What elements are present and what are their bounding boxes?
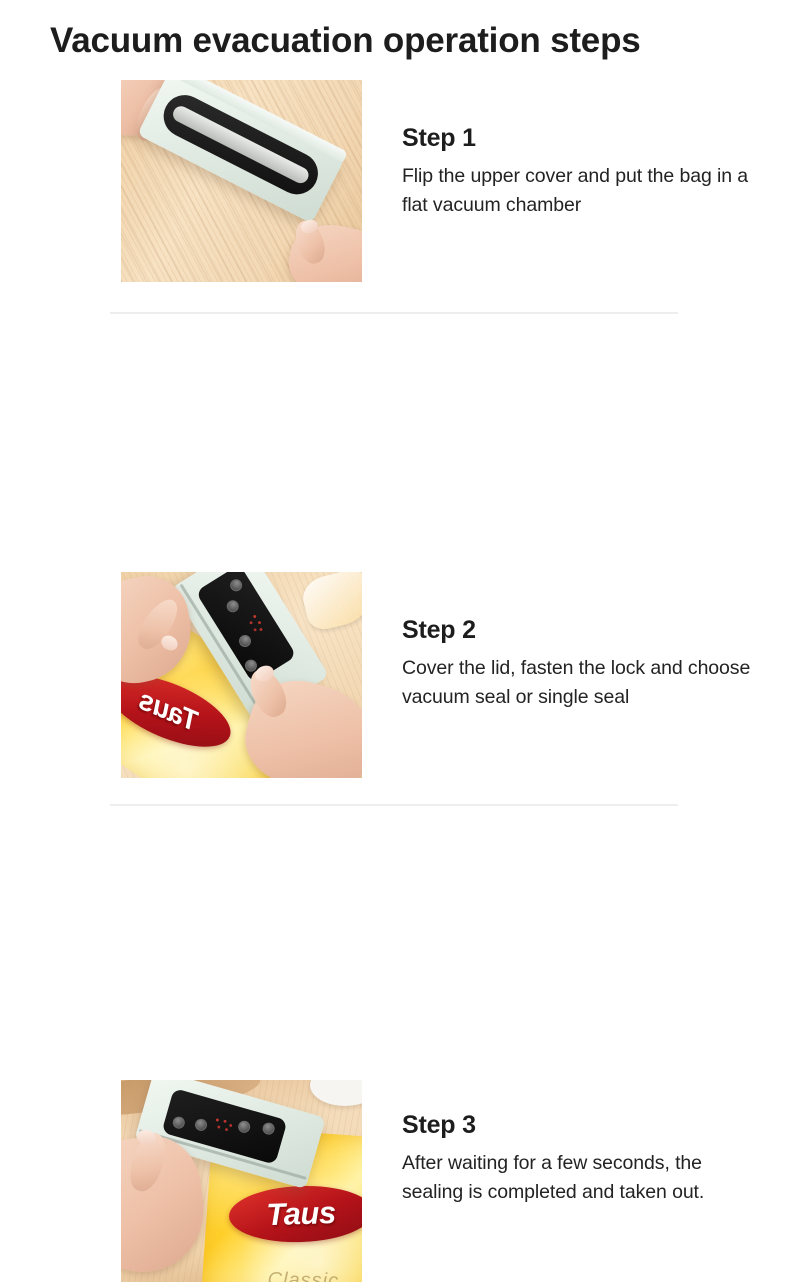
led-indicator xyxy=(210,1114,236,1135)
step-row: Step 1 Flip the upper cover and put the … xyxy=(0,75,800,313)
step-3-text: Step 3 After waiting for a few seconds, … xyxy=(402,1110,752,1207)
steps-list: Step 1 Flip the upper cover and put the … xyxy=(0,75,800,800)
step-row: Taus xyxy=(0,313,800,567)
bag-brand-text: Taus xyxy=(228,1184,362,1245)
step-1-photo xyxy=(121,80,362,282)
page-title: Vacuum evacuation operation steps xyxy=(50,19,770,63)
step-3-description: After waiting for a few seconds, the sea… xyxy=(402,1149,752,1207)
control-button xyxy=(261,1121,276,1136)
bag-variant-text: Classic xyxy=(228,1268,362,1282)
section-divider xyxy=(110,804,678,806)
control-button xyxy=(237,1119,252,1134)
step-3-photo: Taus Classic xyxy=(121,1080,362,1282)
control-button xyxy=(194,1117,209,1132)
step-1-description: Flip the upper cover and put the bag in … xyxy=(402,162,752,220)
bag-logo: Taus xyxy=(228,1184,362,1245)
step-1-heading: Step 1 xyxy=(402,123,752,153)
step-3-heading: Step 3 xyxy=(402,1110,752,1140)
control-button xyxy=(171,1115,186,1130)
step-row: Taus Classic Step xyxy=(0,567,800,800)
step-1-text: Step 1 Flip the upper cover and put the … xyxy=(402,123,752,220)
